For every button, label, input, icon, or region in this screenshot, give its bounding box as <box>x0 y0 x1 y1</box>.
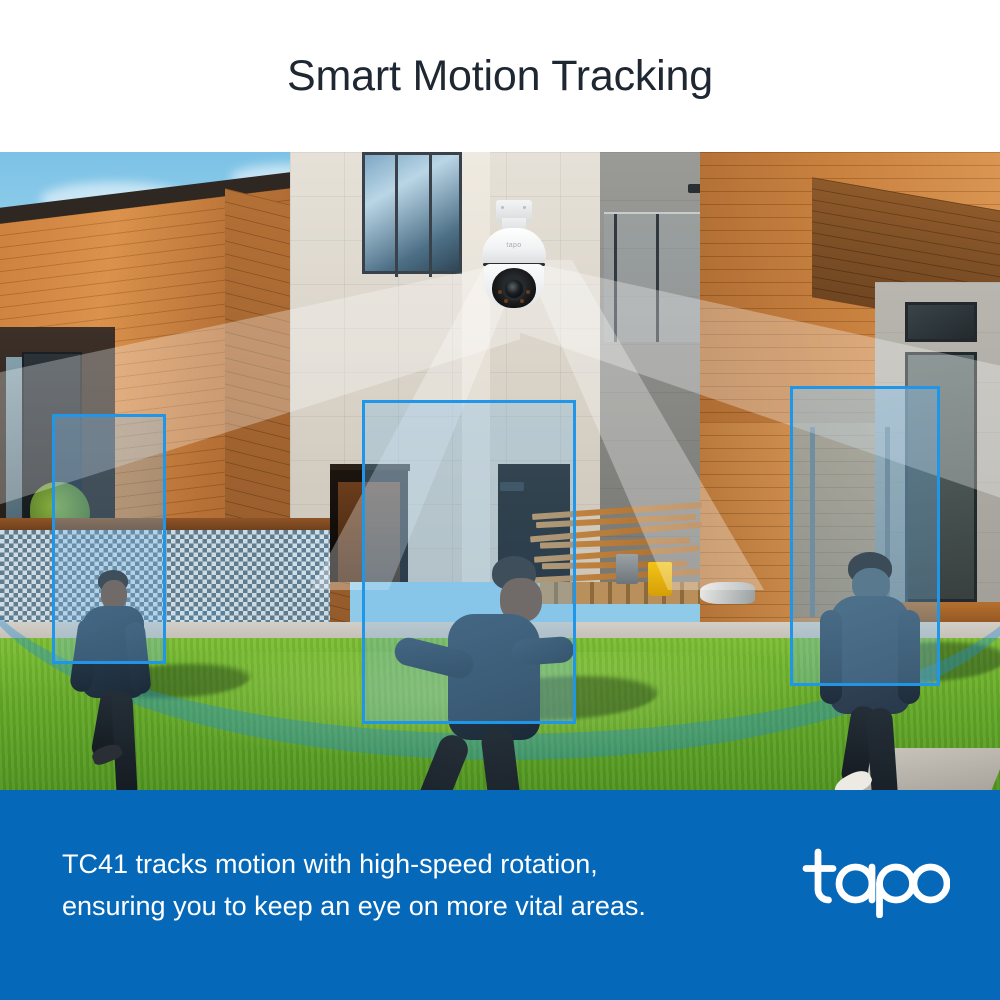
page-title: Smart Motion Tracking <box>287 55 713 98</box>
ir-led <box>526 290 530 294</box>
caption-line-1: TC41 tracks motion with high-speed rotat… <box>62 844 722 886</box>
caption-line-2: ensuring you to keep an eye on more vita… <box>62 886 722 928</box>
bracket-screw <box>501 206 504 209</box>
security-camera[interactable]: tapo <box>478 200 550 310</box>
caption-banner: TC41 tracks motion with high-speed rotat… <box>0 790 1000 1000</box>
tracking-box-runner-right[interactable] <box>790 386 940 686</box>
window-mullion <box>395 155 398 277</box>
page-header: Smart Motion Tracking <box>0 0 1000 152</box>
tracking-box-runner-center[interactable] <box>362 400 576 724</box>
runner-leg-back <box>398 731 472 790</box>
product-scene-photo: tapo <box>0 152 1000 790</box>
tapo-logo: tapo <box>800 846 950 918</box>
camera-lens <box>505 280 523 298</box>
tall-window <box>362 152 462 274</box>
ir-led <box>498 290 502 294</box>
tracking-box-runner-left[interactable] <box>52 414 166 664</box>
caption-text: TC41 tracks motion with high-speed rotat… <box>62 844 722 928</box>
ir-led <box>504 299 508 303</box>
window-mullion <box>429 155 432 277</box>
camera-brand-label: tapo <box>482 242 546 249</box>
camera-head-dome: tapo <box>482 228 546 266</box>
runner-leg <box>111 692 138 790</box>
bracket-screw <box>523 206 526 209</box>
ir-led <box>520 299 524 303</box>
right-transom-window <box>905 302 977 342</box>
